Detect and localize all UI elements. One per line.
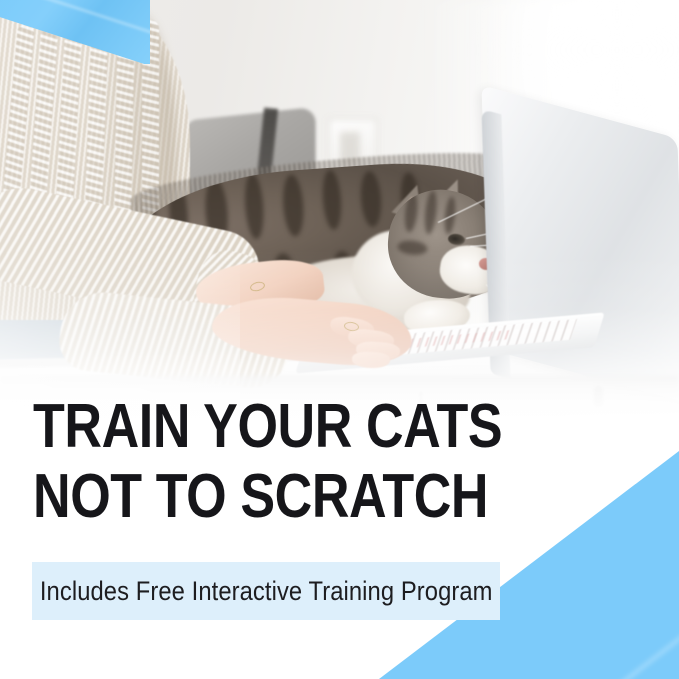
headline: TRAIN YOUR CATS NOT TO SCRATCH [33,392,643,532]
cat-head-stripe [423,190,439,235]
subtitle-banner: Includes Free Interactive Training Progr… [32,562,500,620]
blue-triangle-crease [434,623,679,679]
cat-stripe [359,170,383,227]
poster-canvas: TRAIN YOUR CATS NOT TO SCRATCH Includes … [0,0,679,679]
headline-line-1: TRAIN YOUR CATS [33,392,545,462]
cat-head-stripe [397,239,428,256]
cat-stripe [243,173,266,240]
cat-stripe [281,174,305,237]
cat-stripe [321,169,343,230]
laptop-lid [481,85,679,403]
subtitle-text: Includes Free Interactive Training Progr… [40,576,493,607]
hero-photo [0,0,679,420]
headline-line-2: NOT TO SCRATCH [33,462,545,532]
